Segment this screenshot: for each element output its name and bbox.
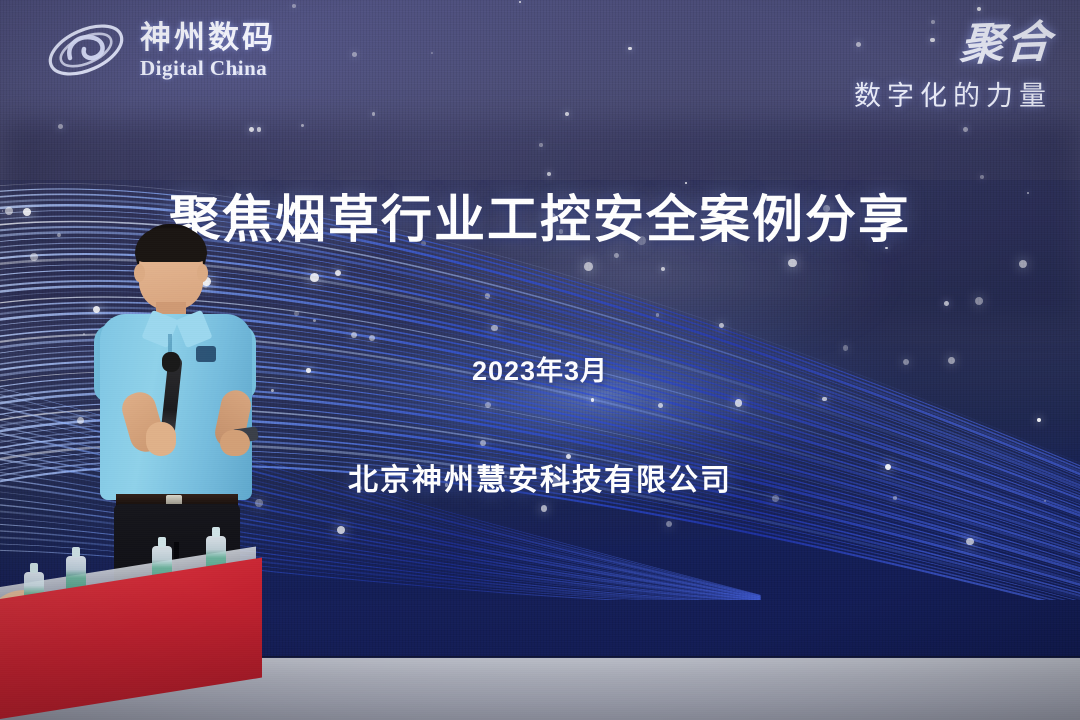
microphone-head <box>162 352 180 372</box>
foreground-table <box>0 580 264 720</box>
conference-stage-photo: 神州数码 Digital China 聚合 数字化的力量 聚焦烟草行业工控安全案… <box>0 0 1080 720</box>
presenter-hair-top <box>135 228 207 262</box>
presenter-ear-left <box>134 264 145 282</box>
presenter-shirt-logo <box>196 346 216 362</box>
brand-name-cn: 神州数码 <box>140 22 276 53</box>
event-tagline: 数字化的力量 <box>854 74 1052 113</box>
presenter-hand-right <box>220 430 250 456</box>
digital-china-swirl-icon <box>44 18 128 82</box>
presenter-ear-right <box>197 264 208 282</box>
presenter-hand-left <box>146 422 176 456</box>
brand-name-en: Digital China <box>140 58 276 79</box>
digital-china-logo: 神州数码 Digital China <box>44 18 276 82</box>
event-calligraphy: 聚合 <box>852 21 1054 72</box>
swirl-icon-svg <box>44 18 128 82</box>
event-logo: 聚合 数字化的力量 <box>854 24 1052 113</box>
